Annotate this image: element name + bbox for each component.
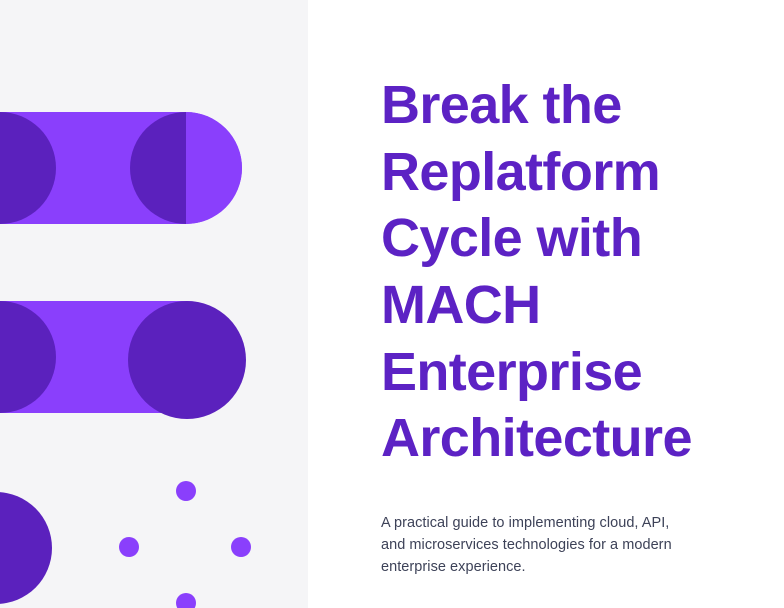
circle-bottom-left-dark — [0, 492, 52, 604]
ebook-cover: Break the Replatform Cycle with MACH Ent… — [0, 0, 784, 608]
cover-title: Break the Replatform Cycle with MACH Ent… — [381, 72, 741, 472]
dot-left — [119, 537, 139, 557]
dot-top — [176, 481, 196, 501]
cover-artwork-panel — [0, 0, 308, 608]
dot-bottom — [176, 593, 196, 608]
cover-text-panel: Break the Replatform Cycle with MACH Ent… — [308, 0, 784, 608]
cover-subtitle: A practical guide to implementing cloud,… — [381, 512, 681, 579]
dot-right — [231, 537, 251, 557]
circle-middle-right-dark — [128, 301, 246, 419]
